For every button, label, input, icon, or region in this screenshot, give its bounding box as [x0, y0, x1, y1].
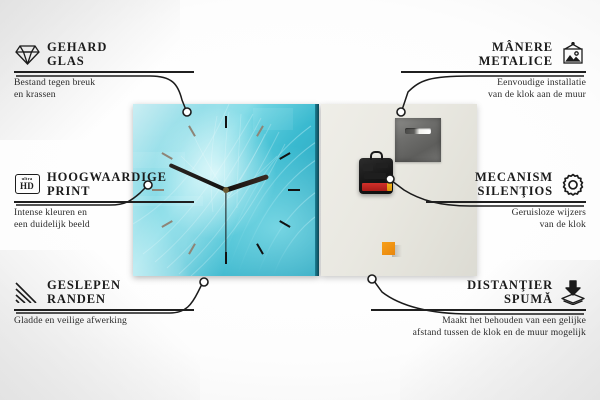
feature-rule: [14, 309, 194, 311]
hanging-picture-icon: [560, 42, 586, 66]
clock-tick: [288, 189, 300, 191]
feature-metal-hanger: MÂNERE METALICE Eenvoudige installatie v…: [401, 40, 586, 101]
foam-spacer: [382, 242, 395, 255]
feature-title-line2: PRINT: [47, 184, 167, 198]
feature-title-line2: SILENŢIOS: [475, 184, 553, 198]
feature-title-line1: DISTANŢIER: [467, 278, 553, 292]
feature-title-line2: RANDEN: [47, 292, 121, 306]
mechanism-hanging-loop: [370, 151, 383, 160]
feature-hd-print: ultra HD HOOGWAARDIGE PRINT Intense kleu…: [14, 170, 194, 231]
feature-rule: [401, 71, 586, 73]
ultra-hd-badge-icon: ultra HD: [14, 172, 40, 196]
hd-badge-main-text: HD: [20, 182, 34, 191]
feature-desc-line1: Eenvoudige installatie: [401, 77, 586, 89]
feature-desc-line1: Intense kleuren en: [14, 207, 194, 219]
feature-header: DISTANŢIER SPUMĂ: [371, 278, 586, 306]
feature-title-line1: GEHARD: [47, 40, 107, 54]
diamond-icon: [14, 42, 40, 66]
diagonal-lines-icon: [14, 280, 40, 304]
clock-mechanism: [359, 158, 393, 194]
battery: [362, 183, 390, 191]
feature-title-line2: GLAS: [47, 54, 107, 68]
feature-title-line1: GESLEPEN: [47, 278, 121, 292]
clock-edge: [315, 104, 319, 276]
clock-tick: [225, 116, 227, 128]
clock-center-cap: [223, 187, 229, 193]
mechanism-detail: [376, 163, 388, 168]
feature-header: MÂNERE METALICE: [401, 40, 586, 68]
feature-rule: [14, 71, 194, 73]
feature-desc-line1: Bestand tegen breuk: [14, 77, 194, 89]
gear-icon: [560, 172, 586, 196]
feature-header: MECANISM SILENŢIOS: [426, 170, 586, 198]
feature-desc-line2: van de klok: [426, 219, 586, 231]
feature-desc-line1: Geruisloze wijzers: [426, 207, 586, 219]
feature-ground-edges: GESLEPEN RANDEN Gladde en veilige afwerk…: [14, 278, 194, 327]
feature-desc-line2: en krassen: [14, 89, 194, 101]
feature-title-line2: METALICE: [479, 54, 553, 68]
feature-foam-spacer: DISTANŢIER SPUMĂ Maakt het behouden van …: [371, 278, 586, 339]
feature-rule: [426, 201, 586, 203]
feature-rule: [371, 309, 586, 311]
feature-header: GEHARD GLAS: [14, 40, 194, 68]
feature-silent-mechanism: MECANISM SILENŢIOS Geruisloze wijzers va…: [426, 170, 586, 231]
feature-header: ultra HD HOOGWAARDIGE PRINT: [14, 170, 194, 198]
feature-title-line1: MECANISM: [475, 170, 553, 184]
mechanism-detail: [364, 173, 386, 179]
feature-title-line2: SPUMĂ: [467, 292, 553, 306]
feature-title-line1: HOOGWAARDIGE: [47, 170, 167, 184]
arrow-onto-pad-icon: [560, 280, 586, 304]
mechanism-detail: [363, 164, 373, 171]
feature-title-line1: MÂNERE: [479, 40, 553, 54]
feature-tempered-glass: GEHARD GLAS Bestand tegen breuk en krass…: [14, 40, 194, 101]
feature-desc-line2: een duidelijk beeld: [14, 219, 194, 231]
battery-positive-terminal: [387, 183, 392, 191]
feature-desc-line1: Gladde en veilige afwerking: [14, 315, 194, 327]
feature-desc-line2: van de klok aan de muur: [401, 89, 586, 101]
feature-desc-line1: Maakt het behouden van een gelijke: [371, 315, 586, 327]
feature-desc-line2: afstand tussen de klok en de muur mogeli…: [371, 327, 586, 339]
feature-header: GESLEPEN RANDEN: [14, 278, 194, 306]
feature-rule: [14, 201, 194, 203]
metal-hanger-plate: [395, 118, 441, 162]
hanger-keyhole-slot: [405, 128, 431, 134]
